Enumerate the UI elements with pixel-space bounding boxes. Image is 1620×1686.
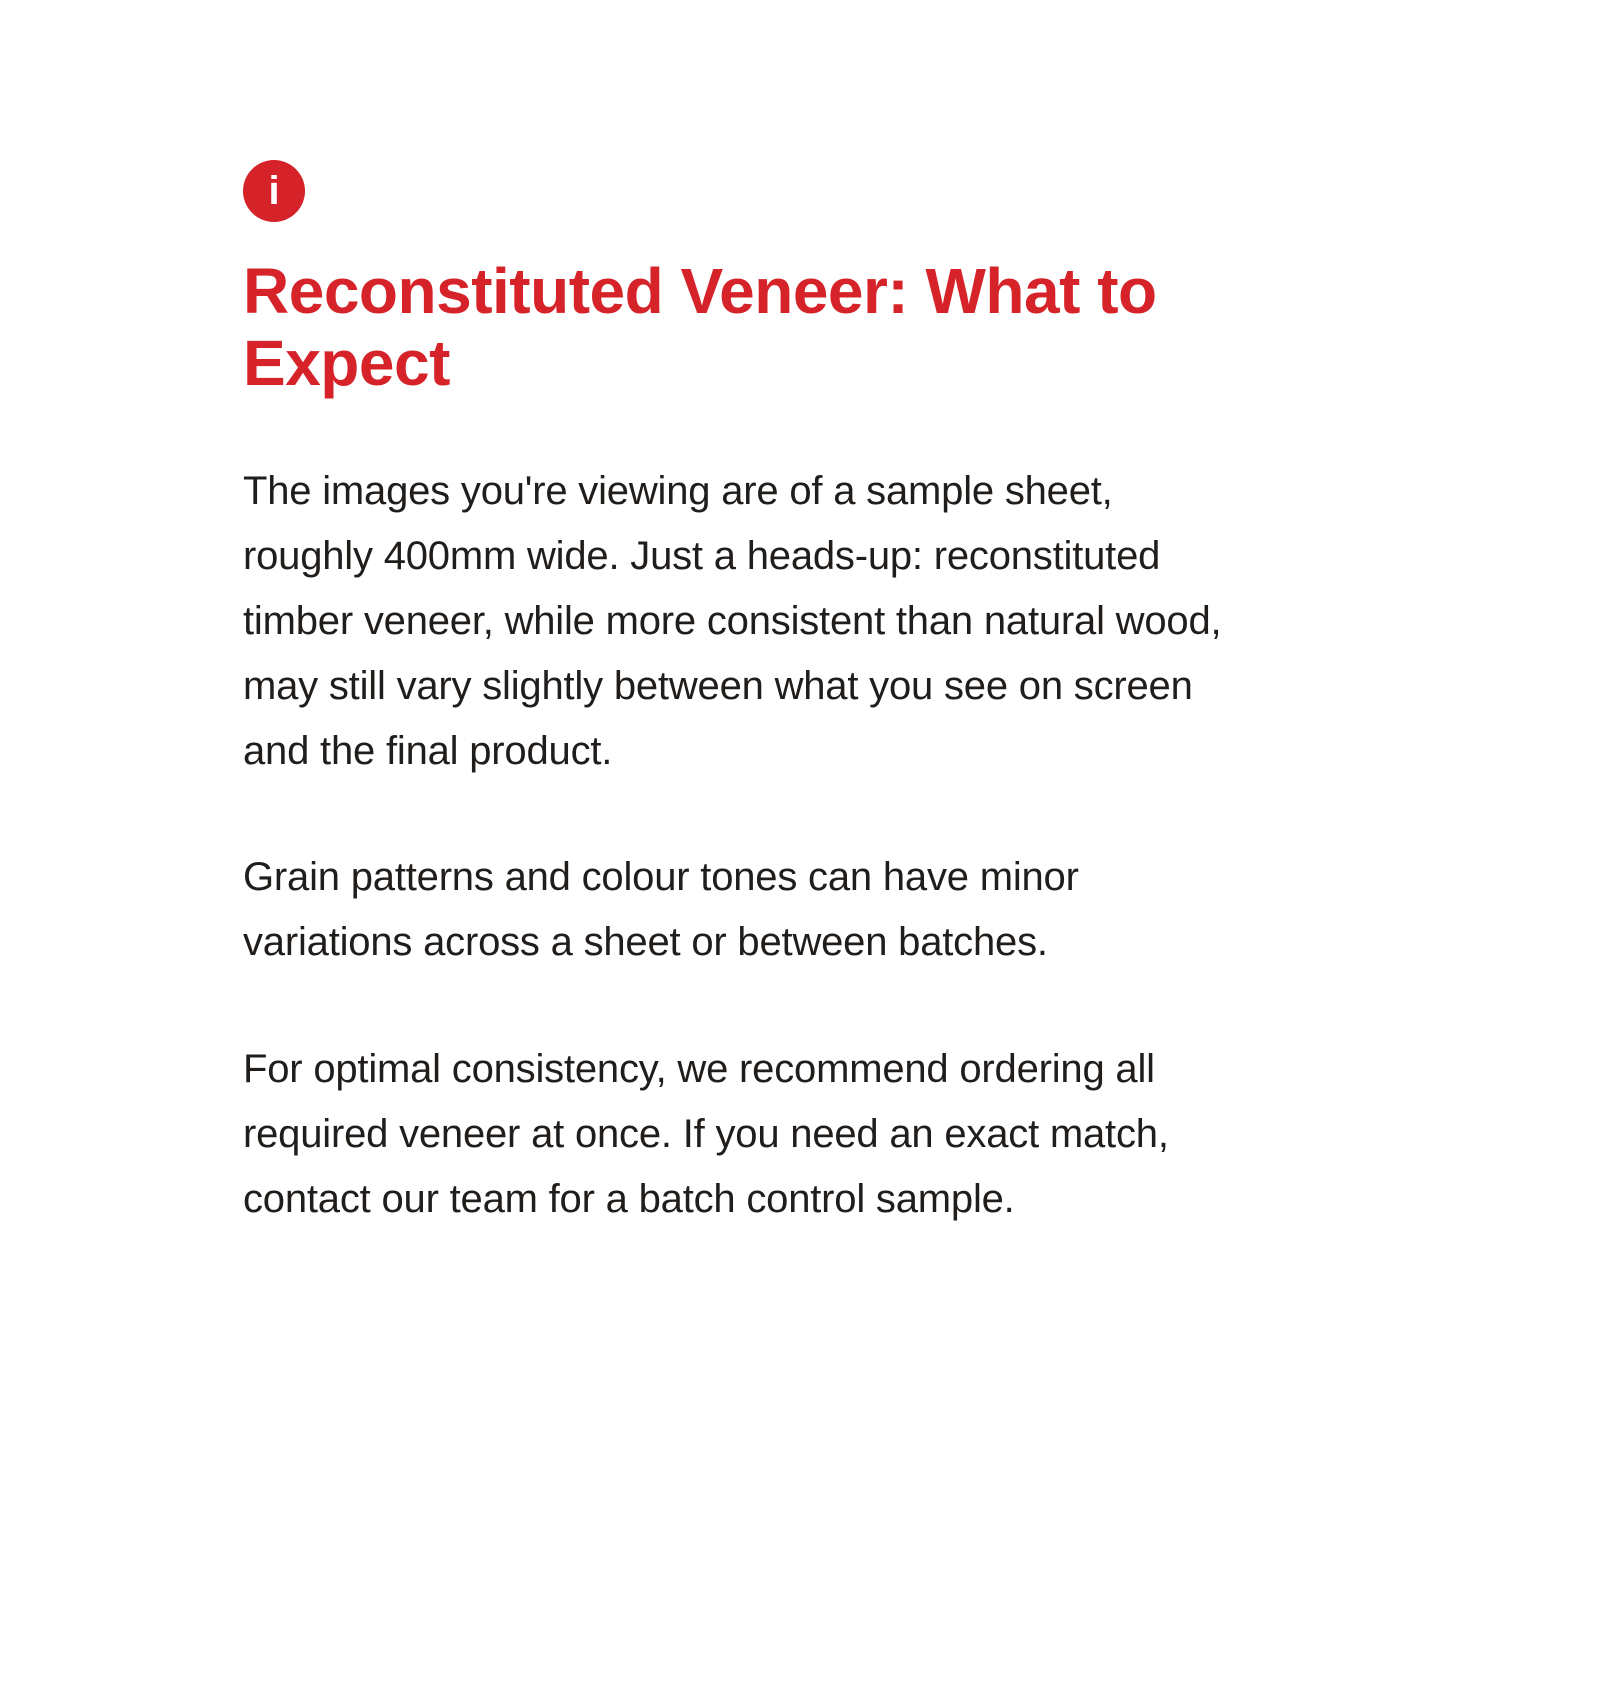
- info-icon-glyph: i: [243, 160, 305, 222]
- reconstituted-veneer-info-panel: i Reconstituted Veneer: What to Expect T…: [243, 160, 1253, 1231]
- body-paragraph-2: Grain patterns and colour tones can have…: [243, 845, 1253, 975]
- body-paragraph-3: For optimal consistency, we recommend or…: [243, 1037, 1253, 1231]
- info-icon: i: [243, 160, 305, 222]
- info-icon-row: i: [243, 160, 1253, 256]
- page-title: Reconstituted Veneer: What to Expect: [243, 256, 1243, 399]
- panel-body: The images you're viewing are of a sampl…: [243, 459, 1253, 1231]
- body-paragraph-1: The images you're viewing are of a sampl…: [243, 459, 1253, 783]
